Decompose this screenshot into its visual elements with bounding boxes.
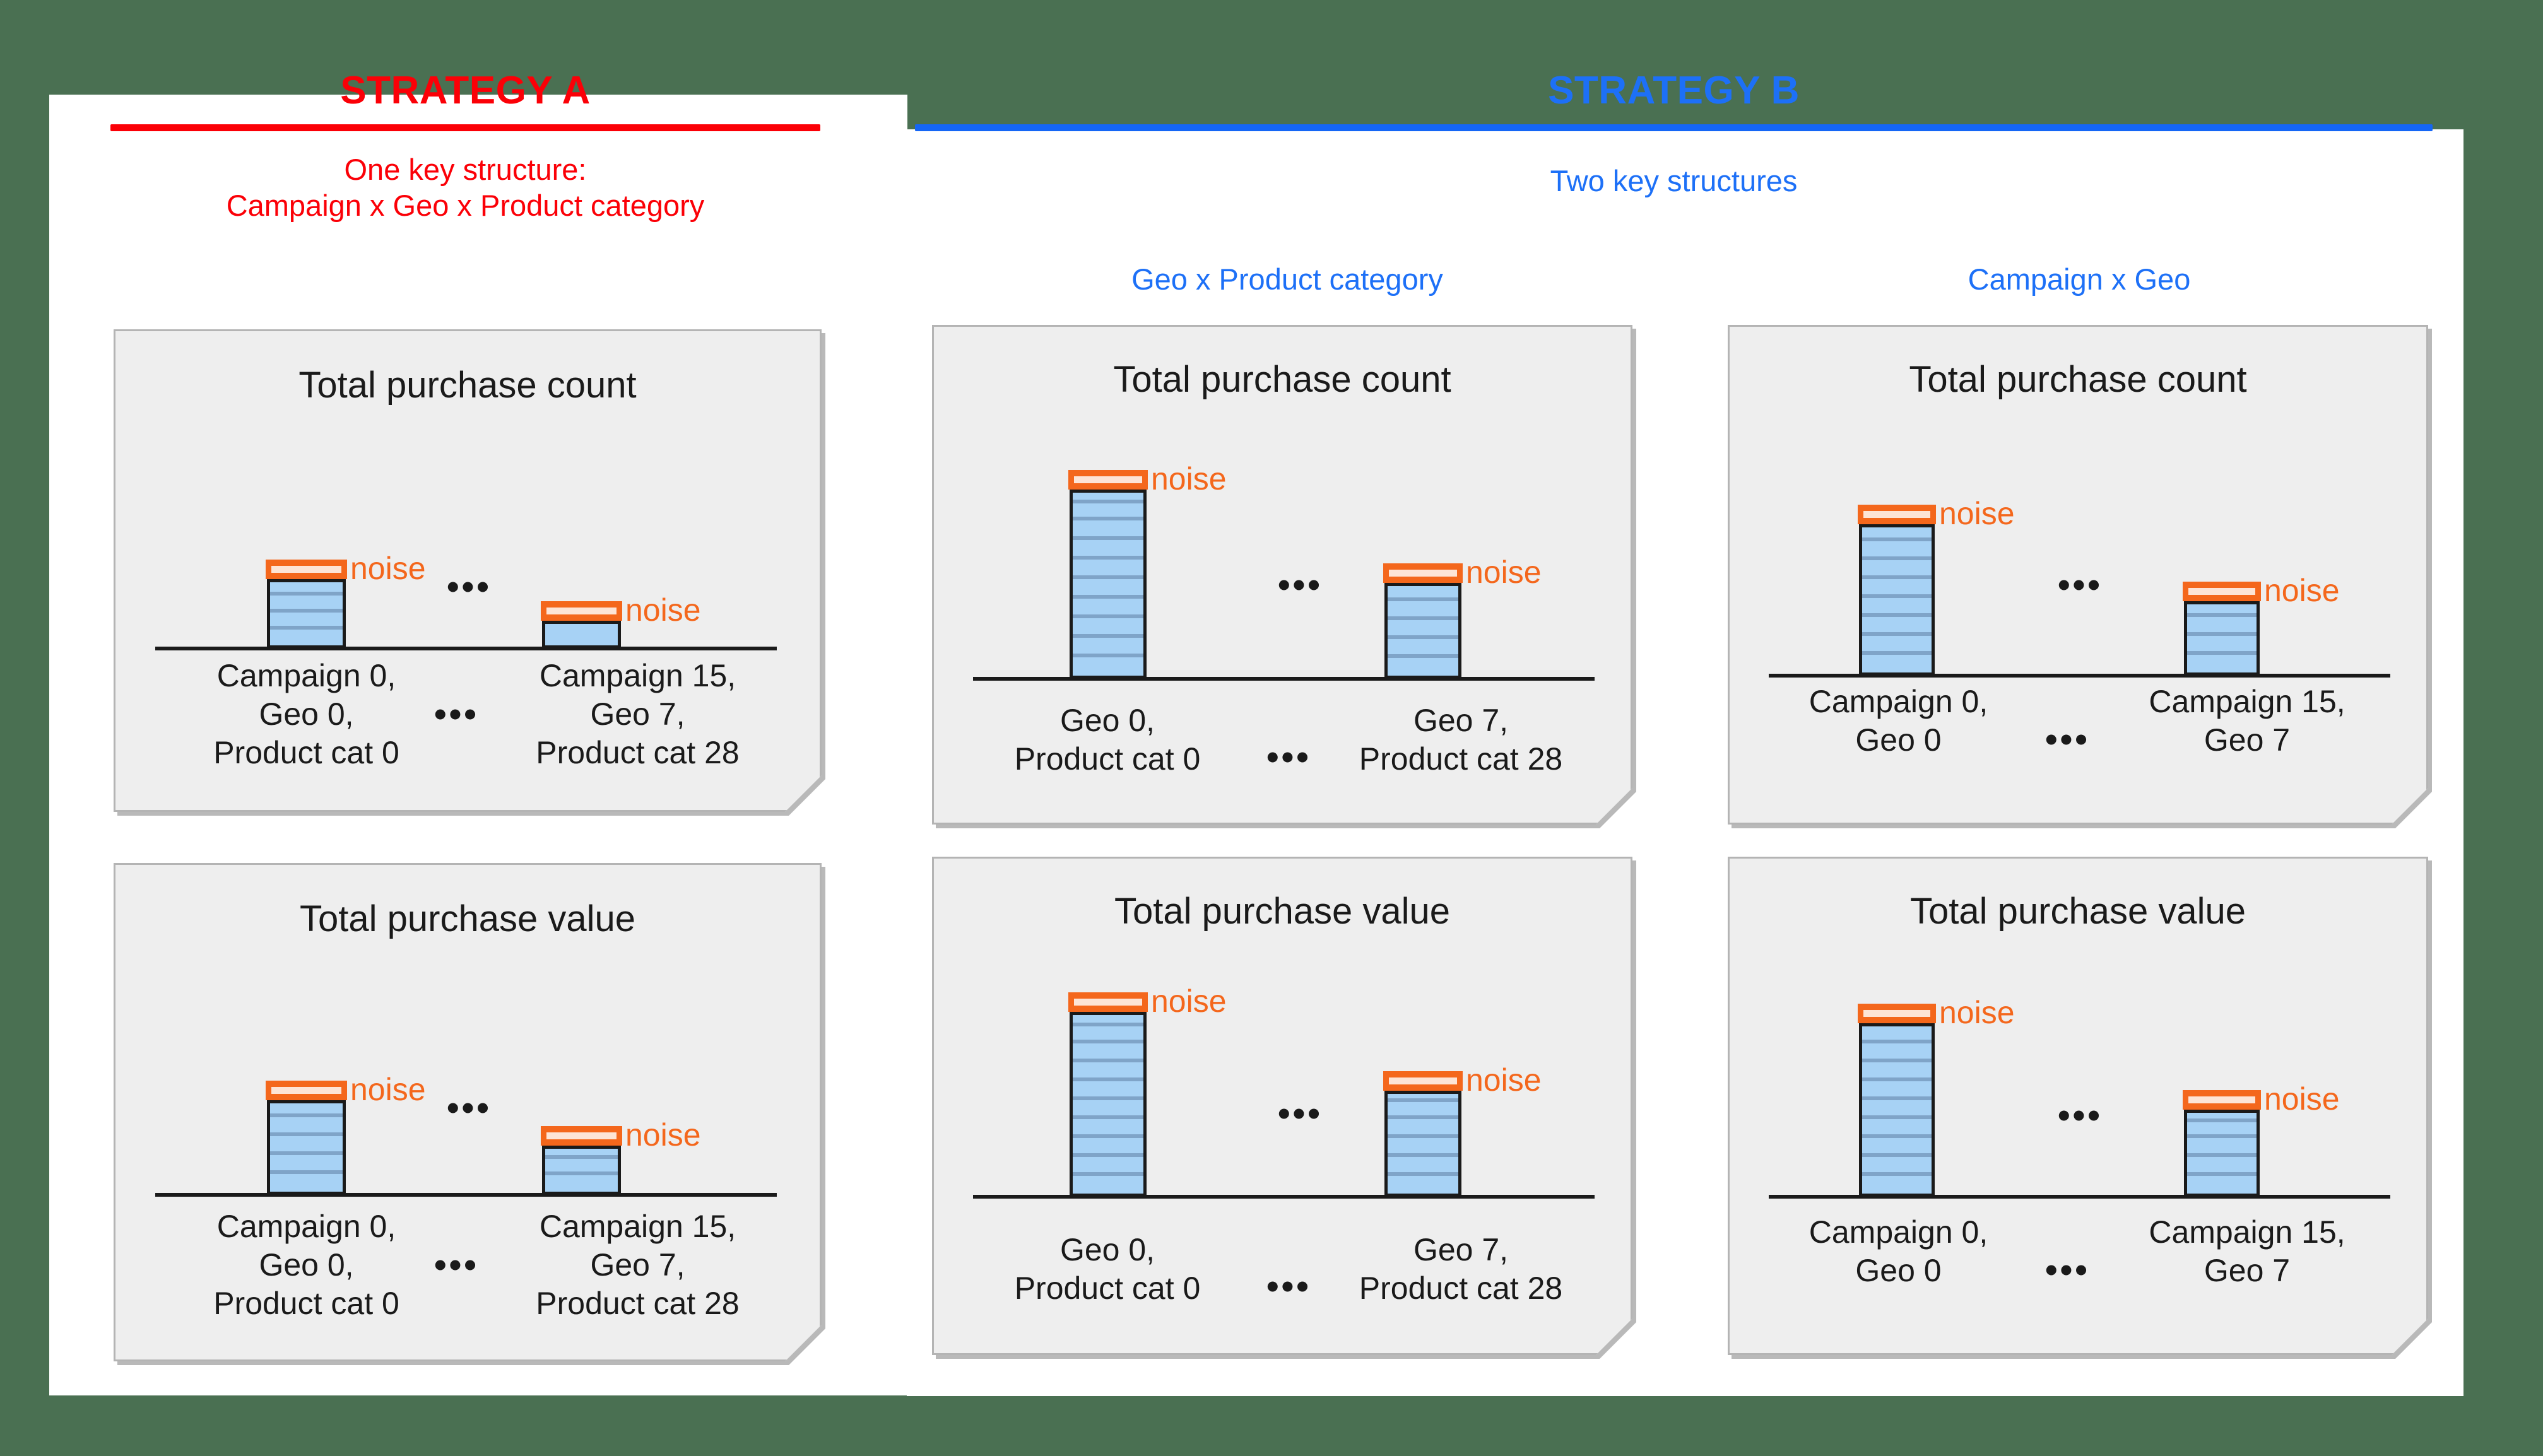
noise-label-0: noise [350,1071,426,1108]
bar-1 [1384,1091,1461,1197]
bar-0 [267,579,346,649]
tick-label-0: Campaign 0, Geo 0 [1742,683,2055,760]
noise-label-0: noise [1939,495,2015,532]
series-ellipsis: ••• [2058,1095,2103,1136]
bar-1 [2184,1110,2260,1197]
chart-panel-a-value: Total purchase value noise ••• noise Cam… [114,863,822,1361]
strategy-b-rule [915,124,2433,131]
slide-canvas: STRATEGY A One key structure: Campaign x… [0,0,2543,1456]
noise-label-1: noise [625,1117,701,1153]
tick-label-1: Campaign 15, Geo 7, Product cat 28 [466,1207,810,1323]
chart-title: Total purchase count [934,358,1631,401]
noise-label-1: noise [1466,1062,1542,1098]
bar-1 [542,1146,621,1195]
bar-0 [1070,490,1147,679]
chart-panel-b-geoprod-count: Total purchase count noise ••• noise Geo… [932,325,1632,825]
bar-0 [1859,1023,1935,1197]
tick-label-1: Geo 7, Product cat 28 [1297,702,1625,778]
series-ellipsis: ••• [2058,564,2103,605]
x-axis [973,677,1595,681]
chart-title: Total purchase count [1730,358,2426,401]
tick-label-1: Campaign 15, Geo 7, Product cat 28 [466,657,810,772]
noise-label-0: noise [1939,994,2015,1031]
noise-box-1 [1383,1071,1463,1091]
strategy-a-title: STRATEGY A [110,68,820,113]
strategy-b-title: STRATEGY B [915,68,2433,113]
bar-0 [267,1100,346,1195]
noise-label-0: noise [1151,461,1227,497]
chart-title: Total purchase value [1730,890,2426,932]
chart-title: Total purchase count [115,364,820,406]
chart-panel-b-campgeo-value: Total purchase value noise ••• noise Cam… [1728,857,2428,1355]
strategy-a-rule [110,124,820,131]
tick-label-0: Geo 0, Product cat 0 [950,1231,1265,1308]
noise-box-0 [1068,470,1148,490]
x-axis [973,1195,1595,1199]
tick-label-0: Campaign 0, Geo 0 [1742,1213,2055,1290]
noise-box-0 [1858,1004,1936,1023]
series-ellipsis: ••• [1278,564,1323,605]
chart-panel-b-campgeo-count: Total purchase count noise ••• noise Cam… [1728,325,2428,825]
tick-label-1: Campaign 15, Geo 7 [2083,1213,2411,1290]
structure-label-campaign-geo: Campaign x Geo [1729,262,2429,296]
noise-box-1 [541,601,622,621]
tick-label-0: Campaign 0, Geo 0, Product cat 0 [141,657,472,772]
x-axis [155,1193,777,1197]
strategy-a-subtitle: One key structure: Campaign x Geo x Prod… [110,151,820,224]
bar-0 [1859,524,1935,676]
tick-label-1: Geo 7, Product cat 28 [1297,1231,1625,1308]
series-ellipsis: ••• [1278,1093,1323,1134]
noise-label-1: noise [2264,572,2340,609]
noise-label-1: noise [625,592,701,628]
structure-label-geo-product: Geo x Product category [947,262,1628,296]
series-ellipsis: ••• [447,566,492,607]
noise-box-1 [2183,582,2261,601]
chart-panel-b-geoprod-value: Total purchase value noise ••• noise Ge [932,857,1632,1355]
noise-label-1: noise [2264,1081,2340,1117]
noise-box-1 [1383,563,1463,583]
noise-label-0: noise [1151,983,1227,1019]
bar-0 [1070,1012,1147,1197]
chart-title: Total purchase value [934,890,1631,932]
strategy-a-subtitle-line1: One key structure: [110,151,820,187]
noise-label-1: noise [1466,554,1542,590]
strategy-b-subtitle: Two key structures [915,163,2433,199]
noise-box-0 [1858,505,1936,524]
noise-box-0 [266,560,347,579]
tick-label-0: Geo 0, Product cat 0 [950,702,1265,778]
chart-title: Total purchase value [115,898,820,940]
series-ellipsis: ••• [447,1087,492,1128]
bar-1 [2184,601,2260,676]
tick-label-0: Campaign 0, Geo 0, Product cat 0 [141,1207,472,1323]
noise-box-0 [266,1081,347,1100]
strategy-a-subtitle-line2: Campaign x Geo x Product category [110,187,820,223]
bar-1 [1384,583,1461,679]
noise-box-0 [1068,992,1148,1012]
noise-label-0: noise [350,550,426,587]
bar-1 [542,621,621,649]
tick-label-1: Campaign 15, Geo 7 [2083,683,2411,760]
chart-panel-a-count: Total purchase count noise ••• noise Cam… [114,329,822,812]
noise-box-1 [2183,1090,2261,1110]
noise-box-1 [541,1126,622,1146]
x-axis [155,647,777,650]
